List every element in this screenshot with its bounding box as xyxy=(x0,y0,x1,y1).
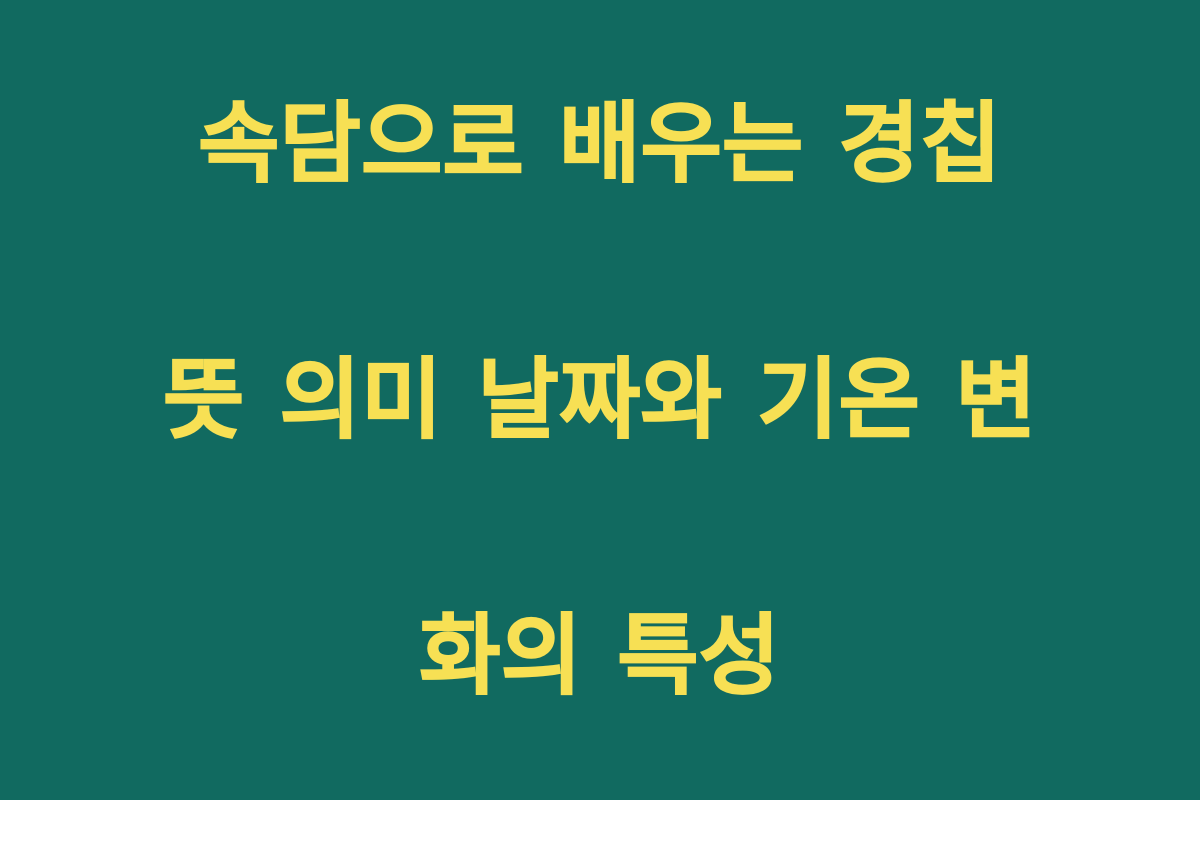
headline-line-1: 속담으로 배우는 경칩 xyxy=(100,80,1100,208)
headline-text-block: 속담으로 배우는 경칩 뜻 의미 날짜와 기온 변 화의 특성 xyxy=(100,0,1100,848)
headline-line-3: 화의 특성 xyxy=(100,592,1100,720)
banner-canvas: 속담으로 배우는 경칩 뜻 의미 날짜와 기온 변 화의 특성 xyxy=(0,0,1200,800)
headline-line-2: 뜻 의미 날짜와 기온 변 xyxy=(100,336,1100,464)
